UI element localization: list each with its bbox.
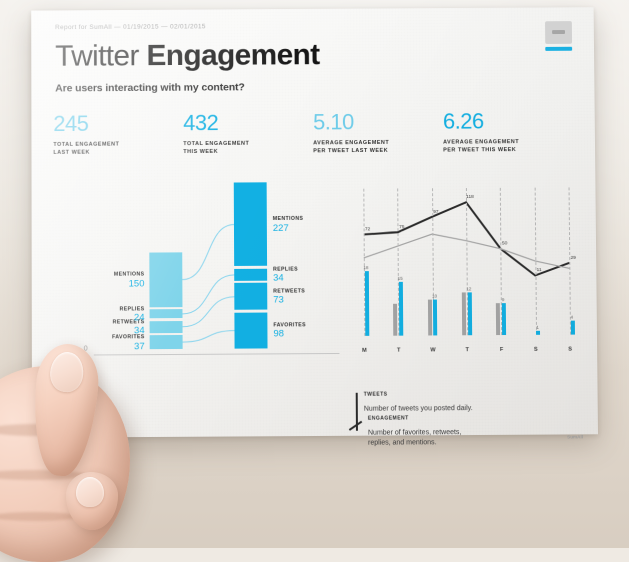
flow-bar-retweets-right <box>234 283 267 310</box>
flow-bar-mentions-left <box>149 252 182 307</box>
flow-label-favorites-right: FAVORITES98 <box>273 322 306 340</box>
chart-day-label: T <box>466 347 469 353</box>
kpi-label: AVERAGE ENGAGEMENT PER TWEET LAST WEEK <box>313 139 443 156</box>
flow-link <box>182 275 234 314</box>
chart-line-value: 97 <box>433 210 438 215</box>
chart-bar-tweets-last-week <box>428 300 432 336</box>
legend-engagement-desc: Number of favorites, retweets, replies, … <box>368 428 468 450</box>
chart-bar-value: 10 <box>432 294 437 299</box>
left-footer-row1: EK <box>58 410 208 417</box>
weekly-engagement-chart: MTWTFSS18151012914727597118501129 <box>355 183 578 353</box>
left-footer: d: EK WEEK wered by SumAll <box>58 389 208 453</box>
flow-label-retweets-right: RETWEETS73 <box>273 288 305 306</box>
chart-day-label: F <box>500 347 503 353</box>
chart-day-label: S <box>568 347 572 353</box>
flow-link <box>182 297 234 327</box>
chart-line-value: 29 <box>571 256 576 261</box>
powered-by-label: wered by SumAll <box>58 445 208 453</box>
sumall-logo <box>545 21 572 51</box>
legend-tweets-desc: Number of tweets you posted daily. <box>364 404 474 415</box>
page-title: Twitter Engagement <box>55 39 572 72</box>
chart-line-value: 75 <box>399 225 404 230</box>
chart-bar-tweets-this-week <box>536 331 540 335</box>
chart-day-label: M <box>362 348 367 354</box>
title-bold: Engagement <box>146 38 319 72</box>
legend-engagement: ENGAGEMENT Number of favorites, retweets… <box>356 415 468 450</box>
flow-label-mentions-right: MENTIONS227 <box>273 216 304 234</box>
kpi-value: 6.26 <box>443 110 573 133</box>
kpi-value: 245 <box>53 112 183 135</box>
engagement-flow-chart: 0 FAVORITES37RETWEETS34REPLIES24MENTIONS… <box>89 185 339 356</box>
flow-bar-replies-right <box>234 268 267 281</box>
title-light: Twitter <box>55 39 146 72</box>
chart-bar-value: 9 <box>502 297 505 302</box>
flow-bar-replies-left <box>150 309 183 318</box>
legend-engagement-title: ENGAGEMENT <box>368 415 468 422</box>
chart-bar-tweets-this-week <box>399 282 403 336</box>
chart-line-value: 50 <box>502 242 507 247</box>
chart-line-value: 11 <box>537 268 542 273</box>
flow-bar-mentions-right <box>234 183 267 267</box>
legend-tweets: TWEETS Number of tweets you posted daily… <box>356 391 474 415</box>
flow-baseline-label: 0 <box>84 346 88 353</box>
kpi-avg-engagement-this-week: 6.26 AVERAGE ENGAGEMENT PER TWEET THIS W… <box>443 110 573 155</box>
kpi-total-engagement-last-week: 245 TOTAL ENGAGEMENT LAST WEEK <box>53 112 183 157</box>
page-subtitle: Are users interacting with my content? <box>55 79 572 94</box>
chart-bar-tweets-this-week <box>433 300 437 336</box>
kpi-total-engagement-this-week: 432 TOTAL ENGAGEMENT THIS WEEK <box>183 112 313 157</box>
kpi-label: TOTAL ENGAGEMENT LAST WEEK <box>53 140 183 157</box>
flow-bar-retweets-left <box>150 321 183 334</box>
flow-bar-favorites-right <box>234 312 267 348</box>
logo-square-icon <box>545 21 572 44</box>
kpi-label: AVERAGE ENGAGEMENT PER TWEET THIS WEEK <box>443 138 573 155</box>
left-footer-heading: d: <box>58 389 208 400</box>
chart-bar-tweets-last-week <box>462 292 466 335</box>
chart-line-value: 118 <box>466 195 474 200</box>
chart-bar-value: 1 <box>536 325 539 330</box>
chart-line-value: 72 <box>365 227 370 232</box>
flow-label-replies-left: REPLIES24 <box>120 306 145 324</box>
chart-bar-tweets-this-week <box>570 320 574 334</box>
flow-label-mentions-left: MENTIONS150 <box>114 272 145 290</box>
chart-bar-tweets-this-week <box>502 303 506 335</box>
flow-label-replies-right: REPLIES34 <box>273 267 298 285</box>
logo-underline-icon <box>545 47 572 51</box>
chart-day-label: S <box>534 347 538 353</box>
flow-baseline-axis <box>94 353 340 355</box>
flow-bar-favorites-left <box>150 335 183 349</box>
kpi-label: TOTAL ENGAGEMENT THIS WEEK <box>183 139 313 156</box>
chart-bar-value: 15 <box>398 276 403 281</box>
chart-bar-tweets-this-week <box>467 292 471 335</box>
kpi-value: 432 <box>183 112 313 135</box>
chart-bar-tweets-this-week <box>364 271 368 336</box>
kpi-avg-engagement-last-week: 5.10 AVERAGE ENGAGEMENT PER TWEET LAST W… <box>313 111 443 156</box>
chart-day-label: T <box>397 348 400 354</box>
report-date-range: Report for SumAll — 01/19/2015 — 02/01/2… <box>55 21 572 31</box>
flow-link <box>183 331 235 343</box>
kpi-value: 5.10 <box>313 111 443 134</box>
report-sheet: Report for SumAll — 01/19/2015 — 02/01/2… <box>31 7 598 438</box>
legend-tweets-title: TWEETS <box>364 391 474 398</box>
left-footer-row2: WEEK <box>58 427 208 434</box>
flow-link <box>182 225 234 280</box>
chart-bar-value: 18 <box>363 265 368 270</box>
chart-bar-tweets-last-week <box>496 303 500 335</box>
chart-bar-tweets-last-week <box>393 303 397 335</box>
chart-bar-value: 12 <box>466 286 471 291</box>
chart-legend: TWEETS Number of tweets you posted daily… <box>356 390 581 449</box>
sumall-signature: SumAll <box>567 434 583 439</box>
kpi-row: 245 TOTAL ENGAGEMENT LAST WEEK 432 TOTAL… <box>53 110 573 157</box>
chart-bar-value: 4 <box>571 314 574 319</box>
chart-day-label: W <box>430 347 435 353</box>
flow-label-favorites-left: FAVORITES37 <box>112 334 145 352</box>
